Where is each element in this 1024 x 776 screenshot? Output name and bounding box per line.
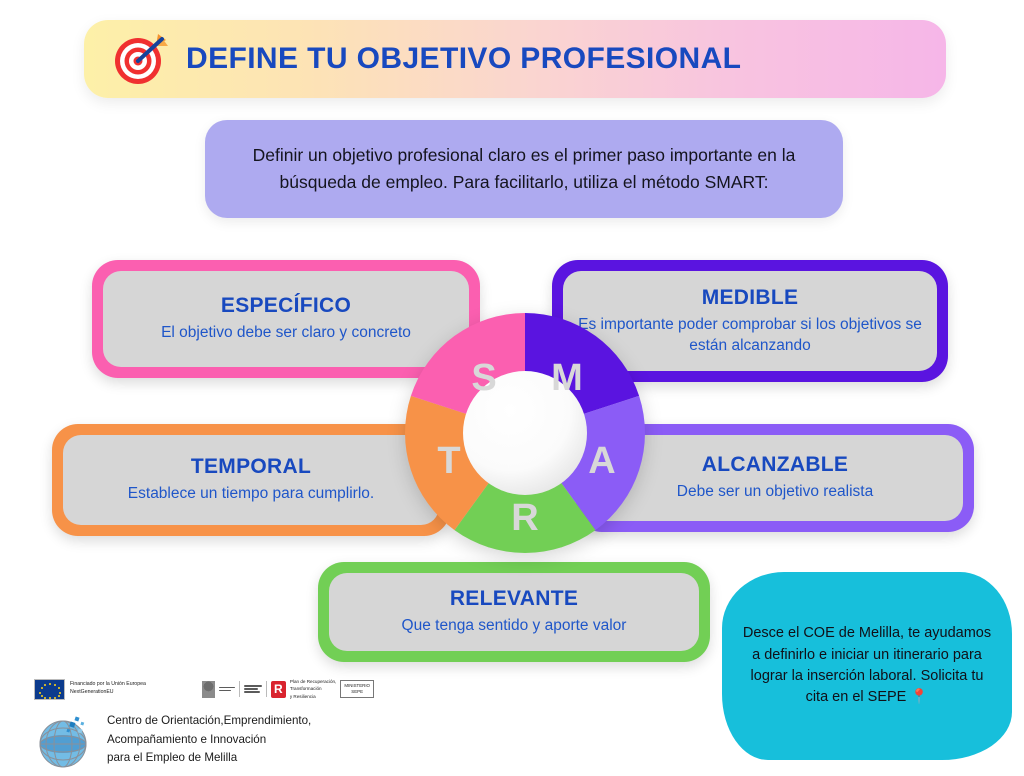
callout-blob: Desce el COE de Melilla, te ayudamos a d… <box>722 572 1012 760</box>
eu-line-1: Financiado por la Unión Europea <box>70 681 146 689</box>
card-title: ALCANZABLE <box>702 453 848 477</box>
card-description: Que tenga sentido y aporte valor <box>402 616 627 636</box>
wheel-label-r: R <box>511 497 538 539</box>
wheel-label-m: M <box>551 357 583 399</box>
card-title: ESPECÍFICO <box>221 294 351 318</box>
coe-branding: Centro de Orientación,Emprendimiento, Ac… <box>34 709 374 771</box>
page-title: DEFINE TU OBJETIVO PROFESIONAL <box>186 42 741 76</box>
globe-logo-icon <box>34 709 96 771</box>
eu-flag-icon <box>34 679 65 700</box>
ministry-text-lines <box>219 687 235 692</box>
card-inner: TEMPORAL Establece un tiempo para cumpli… <box>63 435 439 525</box>
card-description: Establece un tiempo para cumplirlo. <box>128 484 374 504</box>
ministry-text-lines-2 <box>244 685 262 693</box>
wheel-label-t: T <box>437 440 460 482</box>
footer: Financiado por la Unión Europea NextGene… <box>34 676 374 771</box>
eu-funding-badge: Financiado por la Unión Europea NextGene… <box>34 679 146 700</box>
infographic-stage: DEFINE TU OBJETIVO PROFESIONAL Definir u… <box>0 0 1024 768</box>
dart-target-icon <box>110 28 172 90</box>
wheel-label-a: A <box>588 440 615 482</box>
subtitle-box: Definir un objetivo profesional claro es… <box>205 120 843 218</box>
smart-donut-wheel: S M A R T <box>397 305 653 561</box>
wheel-label-s: S <box>471 357 496 399</box>
coe-line-1: Centro de Orientación,Emprendimiento, <box>107 712 311 731</box>
logo-divider-2 <box>266 681 267 697</box>
government-logo-group: R Plan de Recuperación, Transformación y… <box>202 678 374 700</box>
recovery-plan-text: Plan de Recuperación, Transformación y R… <box>290 678 336 700</box>
footer-logo-row: Financiado por la Unión Europea NextGene… <box>34 676 374 702</box>
smart-card-relevante: RELEVANTE Que tenga sentido y aporte val… <box>318 562 710 662</box>
coe-line-2: Acompañamiento e Innovación <box>107 731 311 750</box>
smart-card-temporal: TEMPORAL Establece un tiempo para cumpli… <box>52 424 450 536</box>
eu-funding-text: Financiado por la Unión Europea NextGene… <box>70 681 146 697</box>
plan-line-2: Transformación <box>290 685 336 692</box>
plan-line-3: y Resiliencia <box>290 693 336 700</box>
header-banner: DEFINE TU OBJETIVO PROFESIONAL <box>84 20 946 98</box>
card-description: El objetivo debe ser claro y concreto <box>161 323 411 343</box>
spain-coat-of-arms-icon <box>202 681 215 698</box>
logo-divider <box>239 681 240 697</box>
sepe-logo-box: MINISTERIO SEPE <box>340 680 374 698</box>
callout-text: Desce el COE de Melilla, te ayudamos a d… <box>740 623 994 709</box>
card-description: Debe ser un objetivo realista <box>677 482 873 502</box>
eu-line-2: NextGenerationEU <box>70 689 146 697</box>
recovery-plan-r-icon: R <box>271 681 286 698</box>
card-inner: RELEVANTE Que tenga sentido y aporte val… <box>329 573 699 651</box>
plan-line-1: Plan de Recuperación, <box>290 678 336 685</box>
subtitle-text: Definir un objetivo profesional claro es… <box>231 142 817 196</box>
card-title: TEMPORAL <box>191 455 311 479</box>
sepe-line-2: SEPE <box>344 689 370 695</box>
coe-line-3: para el Empleo de Melilla <box>107 749 311 768</box>
coe-name-text: Centro de Orientación,Emprendimiento, Ac… <box>107 712 311 768</box>
card-title: RELEVANTE <box>450 587 578 611</box>
card-title: MEDIBLE <box>702 286 799 310</box>
